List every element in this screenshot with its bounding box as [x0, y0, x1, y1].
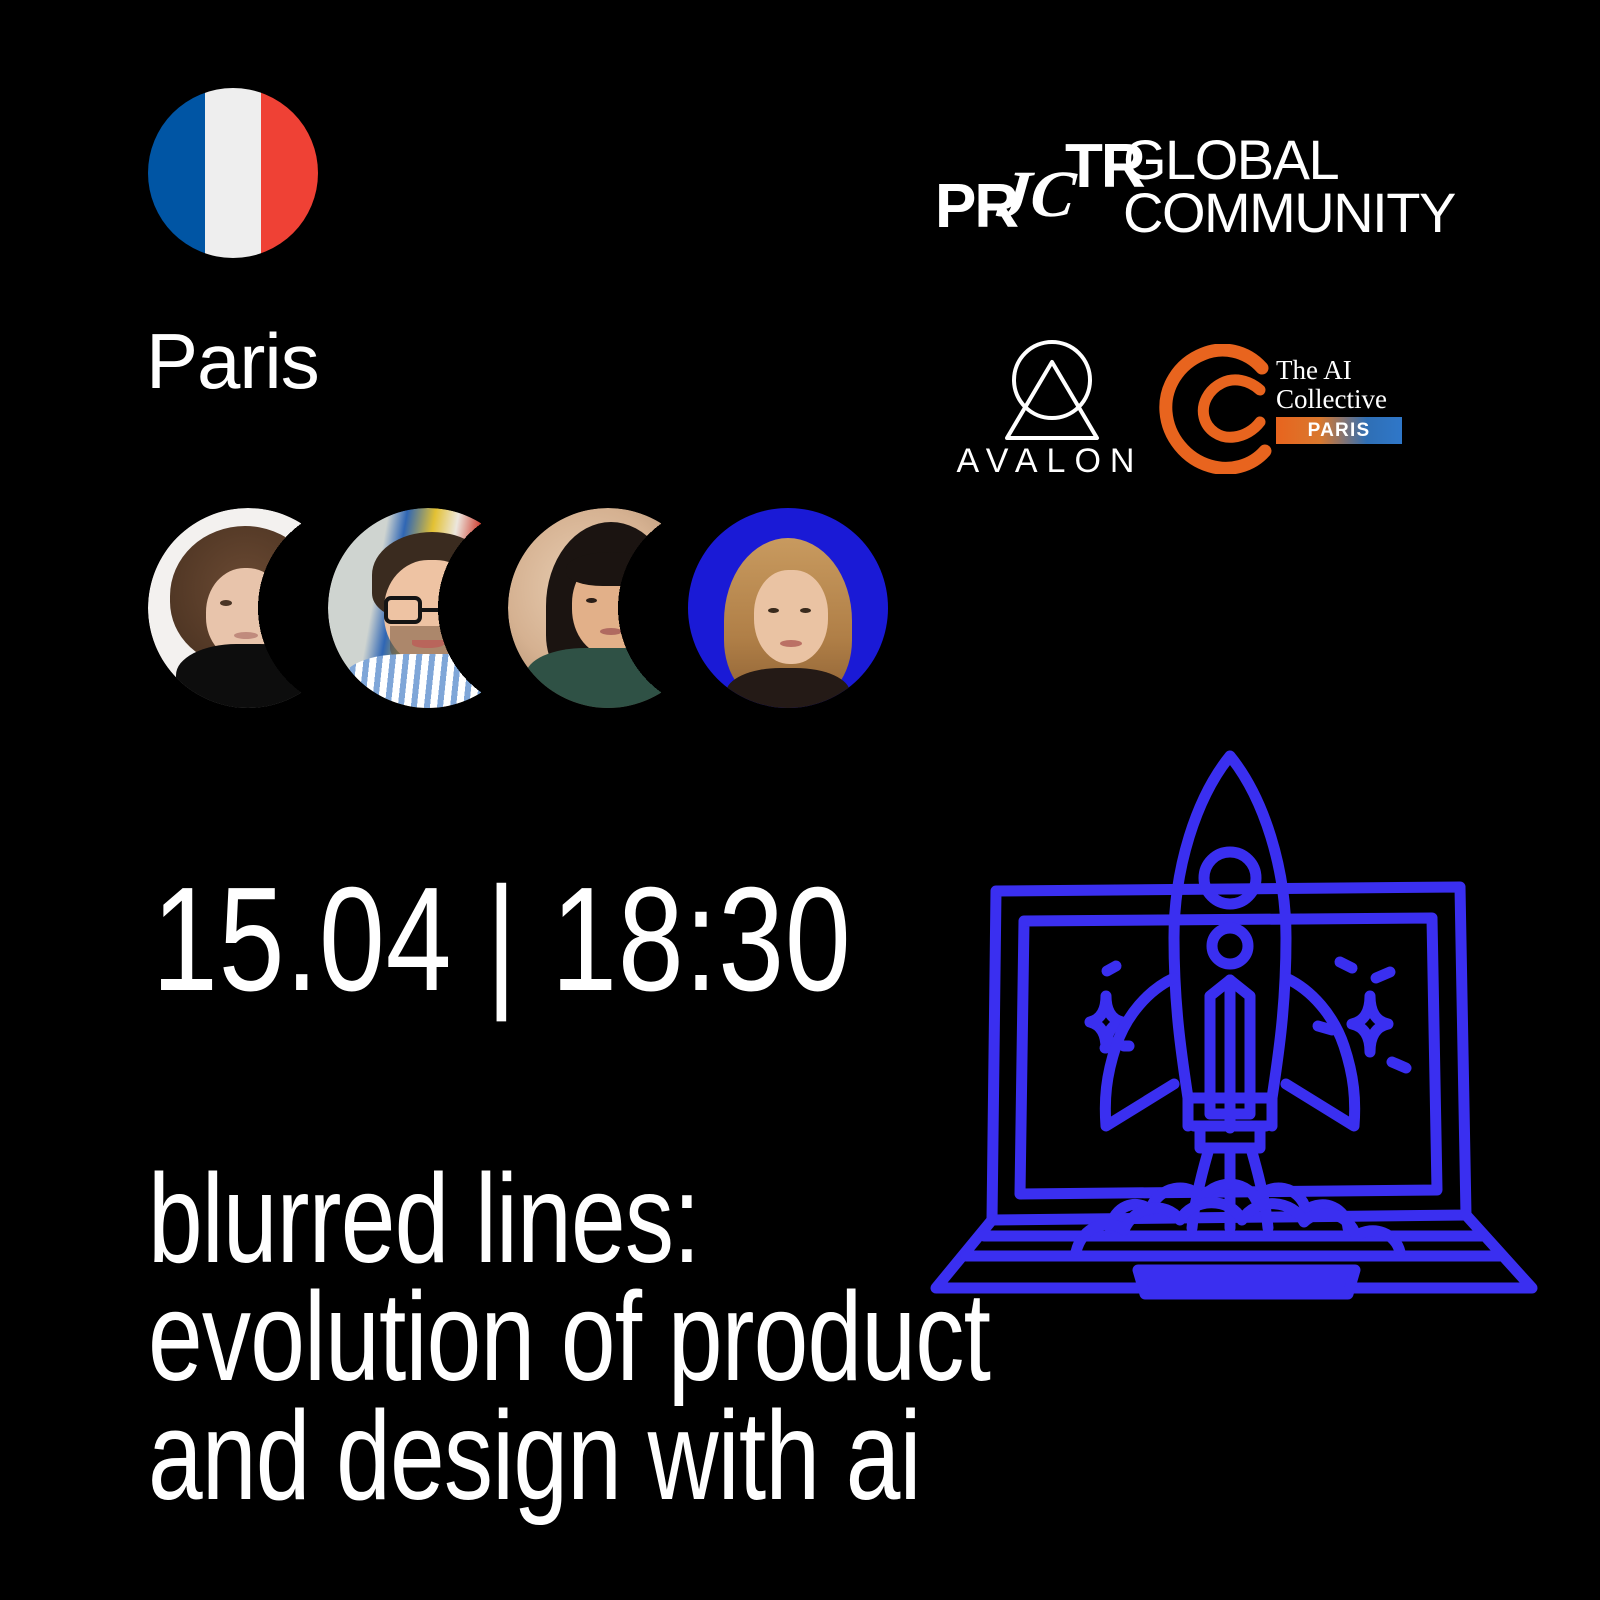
- sponsor-ai-collective: The AI Collective PARIS: [1150, 340, 1405, 480]
- avatar-mouth: [780, 640, 802, 647]
- event-title: blurred lines: evolution of product and …: [148, 1160, 1256, 1515]
- flag-stripe-white: [205, 88, 262, 258]
- brand-word-global: GLOBAL: [1123, 134, 1455, 187]
- prjctr-logo-mark: PR JC TR: [935, 138, 1125, 242]
- city-name: Paris: [146, 322, 319, 400]
- avatar-clothing: [176, 644, 320, 708]
- avatar: [148, 508, 348, 708]
- avatar-photo: [508, 508, 708, 708]
- avatar-mouth: [234, 632, 258, 639]
- flag-stripe-red: [261, 88, 318, 258]
- sponsor-row: AVALON The AI Collective PARIS: [945, 336, 1405, 486]
- ai-collective-city-badge: PARIS: [1276, 417, 1402, 444]
- ai-collective-city-label: PARIS: [1308, 420, 1371, 442]
- avatar-clothing: [726, 668, 850, 708]
- avalon-circle-triangle-icon: [997, 338, 1107, 446]
- france-flag-circle-icon: [148, 88, 318, 258]
- ai-collective-text: The AI Collective PARIS: [1276, 356, 1406, 444]
- event-title-line-1: blurred lines:: [148, 1160, 1256, 1278]
- avatar-mouth: [600, 628, 622, 635]
- event-title-line-3: and design with ai: [148, 1397, 1256, 1515]
- avatar: [688, 508, 888, 708]
- avatar-eye-left: [768, 608, 779, 613]
- avatar: [328, 508, 528, 708]
- brand-lockup: PR JC TR GLOBAL COMMUNITY: [935, 138, 1405, 248]
- sponsor-avalon: AVALON: [955, 336, 1145, 484]
- brand-wordmark: GLOBAL COMMUNITY: [1123, 134, 1455, 239]
- speaker-avatar-group: [148, 508, 888, 708]
- flag-stripe-blue: [148, 88, 205, 258]
- avatar-eye-right: [800, 608, 811, 613]
- ai-collective-line-2: Collective: [1276, 385, 1406, 414]
- avatar: [508, 508, 708, 708]
- event-datetime: 15.04 | 18:30: [152, 866, 852, 1014]
- ai-collective-line-1: The AI: [1276, 356, 1406, 385]
- event-poster: Paris PR JC TR GLOBAL COMMUNITY AVALON: [0, 0, 1600, 1600]
- brand-word-community: COMMUNITY: [1123, 187, 1455, 240]
- avatar-photo: [688, 508, 888, 708]
- ai-collective-c-icon: [1150, 344, 1272, 474]
- avatar-mouth: [412, 640, 444, 648]
- avatar-eye-right: [258, 600, 270, 606]
- avatar-glasses-icon: [384, 596, 480, 626]
- avatar-photo: [328, 508, 528, 708]
- avatar-clothing: [344, 654, 512, 708]
- avatar-eye-right: [620, 598, 631, 603]
- avatar-eye-left: [220, 600, 232, 606]
- avatar-face: [754, 570, 828, 664]
- avalon-wordmark: AVALON: [955, 442, 1145, 481]
- avatar-bangs: [566, 552, 658, 586]
- event-title-line-2: evolution of product: [148, 1278, 1256, 1396]
- avatar-photo: [148, 508, 348, 708]
- avatar-clothing: [526, 648, 690, 708]
- avatar-eye-left: [586, 598, 597, 603]
